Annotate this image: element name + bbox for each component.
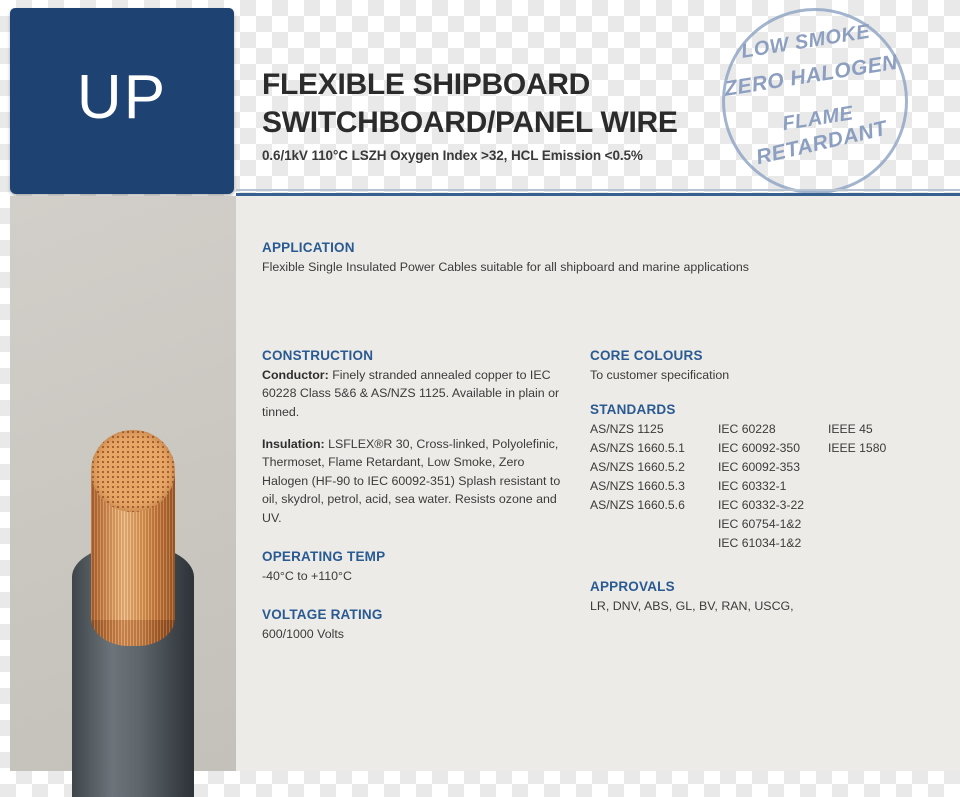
standards-row: AS/NZS 1660.5.6IEC 60332-3-22 xyxy=(590,496,918,515)
conductor-strand-ends xyxy=(91,430,175,512)
standards-cell xyxy=(828,496,918,515)
header-divider-soft xyxy=(236,189,960,191)
application-text: Flexible Single Insulated Power Cables s… xyxy=(262,258,922,276)
standards-cell xyxy=(828,477,918,496)
datasheet-page: UP FLEXIBLE SHIPBOARD SWITCHBOARD/PANEL … xyxy=(0,0,960,797)
standards-cell: IEC 60092-353 xyxy=(718,458,828,477)
standards-row: IEC 61034-1&2 xyxy=(590,534,918,553)
specs-column-left: CONSTRUCTION Conductor: Finely stranded … xyxy=(262,348,562,644)
specs-column-right: CORE COLOURS To customer specification S… xyxy=(590,348,930,615)
standards-row: AS/NZS 1660.5.1IEC 60092-350IEEE 1580 xyxy=(590,439,918,458)
title-line-1: FLEXIBLE SHIPBOARD xyxy=(262,66,782,104)
insulation-paragraph: Insulation: LSFLEX®R 30, Cross-linked, P… xyxy=(262,435,562,527)
standards-cell xyxy=(590,515,718,534)
standards-row: IEC 60754-1&2 xyxy=(590,515,918,534)
standards-table: AS/NZS 1125IEC 60228IEEE 45AS/NZS 1660.5… xyxy=(590,420,918,552)
conductor-paragraph: Conductor: Finely stranded annealed copp… xyxy=(262,366,562,421)
core-colours-heading: CORE COLOURS xyxy=(590,348,930,363)
standards-cell: AS/NZS 1660.5.1 xyxy=(590,439,718,458)
product-title: FLEXIBLE SHIPBOARD SWITCHBOARD/PANEL WIR… xyxy=(262,66,782,163)
standards-cell xyxy=(828,515,918,534)
brand-logo-block: UP xyxy=(10,8,234,194)
voltage-rating-value: 600/1000 Volts xyxy=(262,625,562,643)
approvals-heading: APPROVALS xyxy=(590,579,930,594)
voltage-rating-heading: VOLTAGE RATING xyxy=(262,607,562,622)
core-colours-value: To customer specification xyxy=(590,366,930,384)
standards-table-body: AS/NZS 1125IEC 60228IEEE 45AS/NZS 1660.5… xyxy=(590,420,918,552)
brand-logo-text: UP xyxy=(77,67,167,135)
standards-cell xyxy=(828,458,918,477)
section-core-colours: CORE COLOURS To customer specification xyxy=(590,348,930,384)
standards-heading: STANDARDS xyxy=(590,402,930,417)
standards-cell: IEC 60092-350 xyxy=(718,439,828,458)
section-standards: STANDARDS AS/NZS 1125IEC 60228IEEE 45AS/… xyxy=(590,402,930,552)
section-application: APPLICATION Flexible Single Insulated Po… xyxy=(262,240,922,276)
section-voltage-rating: VOLTAGE RATING 600/1000 Volts xyxy=(262,607,562,643)
standards-cell: IEEE 1580 xyxy=(828,439,918,458)
header-band: UP FLEXIBLE SHIPBOARD SWITCHBOARD/PANEL … xyxy=(0,0,960,196)
standards-cell xyxy=(590,534,718,553)
product-subtitle: 0.6/1kV 110°C LSZH Oxygen Index >32, HCL… xyxy=(262,148,782,163)
title-line-2: SWITCHBOARD/PANEL WIRE xyxy=(262,104,782,142)
standards-cell: AS/NZS 1125 xyxy=(590,420,718,439)
standards-row: AS/NZS 1660.5.2IEC 60092-353 xyxy=(590,458,918,477)
standards-cell: IEC 60754-1&2 xyxy=(718,515,828,534)
approvals-value: LR, DNV, ABS, GL, BV, RAN, USCG, xyxy=(590,597,930,615)
standards-cell: AS/NZS 1660.5.6 xyxy=(590,496,718,515)
operating-temp-value: -40°C to +110°C xyxy=(262,567,562,585)
certification-stamp-text: LOW SMOKE ZERO HALOGEN FLAME RETARDANT xyxy=(709,0,922,207)
standards-row: AS/NZS 1125IEC 60228IEEE 45 xyxy=(590,420,918,439)
standards-cell: IEEE 45 xyxy=(828,420,918,439)
standards-cell: IEC 61034-1&2 xyxy=(718,534,828,553)
page-bottom-margin xyxy=(0,771,960,797)
standards-cell: IEC 60332-1 xyxy=(718,477,828,496)
cable-illustration xyxy=(72,424,194,797)
product-image-panel xyxy=(10,196,236,771)
insulation-label: Insulation: xyxy=(262,437,325,451)
standards-row: AS/NZS 1660.5.3IEC 60332-1 xyxy=(590,477,918,496)
standards-cell xyxy=(828,534,918,553)
section-construction: CONSTRUCTION Conductor: Finely stranded … xyxy=(262,348,562,527)
construction-heading: CONSTRUCTION xyxy=(262,348,562,363)
conductor-label: Conductor: xyxy=(262,368,329,382)
standards-cell: AS/NZS 1660.5.3 xyxy=(590,477,718,496)
application-heading: APPLICATION xyxy=(262,240,922,255)
section-operating-temp: OPERATING TEMP -40°C to +110°C xyxy=(262,549,562,585)
section-approvals: APPROVALS LR, DNV, ABS, GL, BV, RAN, USC… xyxy=(590,579,930,615)
standards-cell: IEC 60332-3-22 xyxy=(718,496,828,515)
standards-cell: AS/NZS 1660.5.2 xyxy=(590,458,718,477)
operating-temp-heading: OPERATING TEMP xyxy=(262,549,562,564)
standards-cell: IEC 60228 xyxy=(718,420,828,439)
